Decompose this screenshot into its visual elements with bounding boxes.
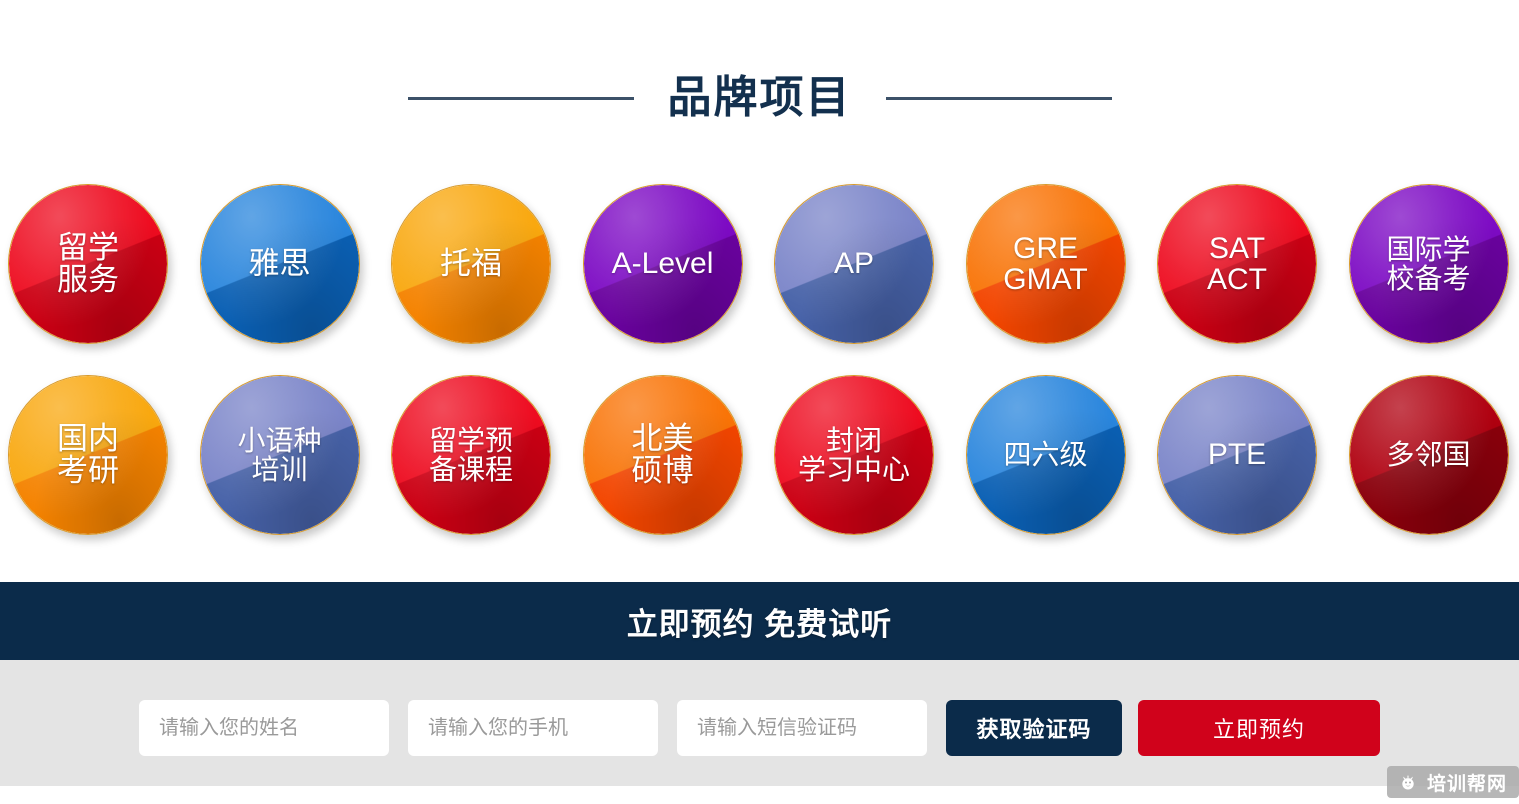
program-badge-label: 多邻国: [1378, 440, 1478, 469]
program-badge-label: 国际学 校备考: [1378, 235, 1478, 293]
program-row-2: 国内 考研小语种 培训留学预 备课程北美 硕博封闭 学习中心四六级PTE多邻国: [8, 375, 1519, 535]
program-badge[interactable]: 封闭 学习中心: [774, 375, 934, 535]
program-badge[interactable]: A-Level: [583, 184, 743, 344]
program-badge[interactable]: 留学预 备课程: [391, 375, 551, 535]
site-watermark: 培训帮网: [1387, 766, 1519, 798]
submit-booking-button[interactable]: 立即预约: [1138, 700, 1380, 756]
program-badge-label: 国内 考研: [49, 423, 127, 487]
title-rule-left: [408, 97, 634, 100]
name-input[interactable]: [139, 700, 389, 756]
program-badge[interactable]: 多邻国: [1349, 375, 1509, 535]
program-badge[interactable]: 国内 考研: [8, 375, 168, 535]
page-title-text: 品牌项目: [668, 76, 852, 120]
program-badge-label: 四六级: [995, 440, 1095, 469]
booking-form-row: 获取验证码 立即预约: [139, 700, 1380, 756]
program-badge-label: 北美 硕博: [624, 423, 702, 487]
program-badge[interactable]: 北美 硕博: [583, 375, 743, 535]
page-title: 品牌项目: [0, 62, 1519, 134]
cta-banner: 立即预约 免费试听: [0, 582, 1519, 660]
program-badge[interactable]: SAT ACT: [1157, 184, 1317, 344]
program-badge-label: 雅思: [241, 248, 319, 280]
program-badge-label: A-Level: [604, 248, 722, 279]
program-badge[interactable]: 托福: [391, 184, 551, 344]
program-badge-label: 留学预 备课程: [421, 426, 521, 484]
cta-banner-text: 立即预约 免费试听: [627, 599, 893, 644]
booking-form: 获取验证码 立即预约: [0, 660, 1519, 786]
program-grid: 留学 服务雅思托福A-LevelAPGRE GMATSAT ACT国际学 校备考…: [8, 184, 1519, 536]
program-badge-label: 托福: [432, 248, 510, 280]
program-badge-label: 留学 服务: [49, 232, 127, 296]
sms-code-input[interactable]: [677, 700, 927, 756]
program-badge-label: GRE GMAT: [995, 233, 1095, 295]
watermark-label: 培训帮网: [1427, 769, 1507, 796]
program-badge[interactable]: AP: [774, 184, 934, 344]
program-row-1: 留学 服务雅思托福A-LevelAPGRE GMATSAT ACT国际学 校备考: [8, 184, 1519, 344]
get-code-button[interactable]: 获取验证码: [946, 700, 1122, 756]
program-badge[interactable]: 雅思: [200, 184, 360, 344]
program-badge[interactable]: 四六级: [966, 375, 1126, 535]
program-badge[interactable]: PTE: [1157, 375, 1317, 535]
sun-face-icon: [1397, 771, 1419, 793]
title-rule-right: [886, 97, 1112, 100]
program-badge[interactable]: 留学 服务: [8, 184, 168, 344]
phone-input[interactable]: [408, 700, 658, 756]
program-badge-label: 小语种 培训: [229, 426, 329, 484]
program-badge-label: 封闭 学习中心: [790, 426, 918, 484]
program-badge-label: SAT ACT: [1199, 233, 1275, 295]
program-badge-label: PTE: [1200, 439, 1274, 470]
program-badge[interactable]: GRE GMAT: [966, 184, 1126, 344]
program-badge[interactable]: 国际学 校备考: [1349, 184, 1509, 344]
program-badge-label: AP: [826, 248, 882, 279]
program-badge[interactable]: 小语种 培训: [200, 375, 360, 535]
